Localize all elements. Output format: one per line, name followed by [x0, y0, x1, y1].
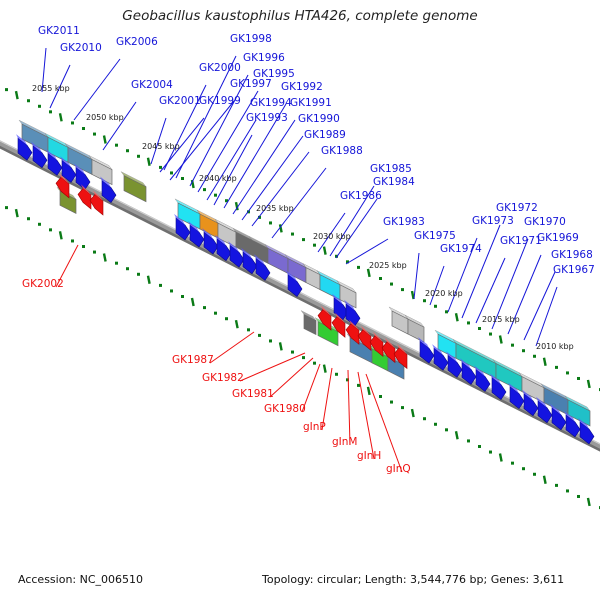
reverse-feature-boxes — [57, 187, 404, 379]
gene-label-gk1995[interactable]: GK1995 — [253, 68, 295, 80]
gene-label-ginm[interactable]: gInM — [332, 436, 357, 448]
gene-label-ginp[interactable]: gInP — [303, 421, 326, 433]
gene-label-gk1974[interactable]: GK1974 — [440, 243, 482, 255]
gene-label-gk2000[interactable]: GK2000 — [199, 62, 241, 74]
axis-tick-2040: 2040 kbp — [199, 174, 237, 183]
gene-label-gk1982[interactable]: GK1982 — [202, 372, 244, 384]
gene-label-gk1991[interactable]: GK1991 — [290, 97, 332, 109]
gene-label-gk1989[interactable]: GK1989 — [304, 129, 346, 141]
gene-label-gk1985[interactable]: GK1985 — [370, 163, 412, 175]
axis-tick-2020: 2020 kbp — [425, 289, 463, 298]
gene-label-gk1994[interactable]: GK1994 — [250, 97, 292, 109]
axis-tick-2030: 2030 kbp — [313, 232, 351, 241]
gene-label-gk1967[interactable]: GK1967 — [553, 264, 595, 276]
gene-label-gk2006[interactable]: GK2006 — [116, 36, 158, 48]
gene-label-gk1984[interactable]: GK1984 — [373, 176, 415, 188]
gc-skew-track-lower — [0, 201, 600, 515]
gene-label-gk1993[interactable]: GK1993 — [246, 112, 288, 124]
axis-tick-2025: 2025 kbp — [369, 261, 407, 270]
gene-label-gk1987[interactable]: GK1987 — [172, 354, 214, 366]
gene-label-gk1992[interactable]: GK1992 — [281, 81, 323, 93]
gene-label-gk1980[interactable]: GK1980 — [264, 403, 306, 415]
gene-label-gk2002[interactable]: GK2002 — [22, 278, 64, 290]
genome-stats-text: Topology: circular; Length: 3,544,776 bp… — [262, 573, 564, 586]
axis-tick-2055: 2055 kbp — [32, 84, 70, 93]
accession-text: Accession: NC_006510 — [18, 573, 143, 586]
gene-label-gk2011[interactable]: GK2011 — [38, 25, 80, 37]
gene-label-gk1972[interactable]: GK1972 — [496, 202, 538, 214]
gene-label-ginh[interactable]: gInH — [357, 450, 381, 462]
gene-label-gk1999[interactable]: GK1999 — [199, 95, 241, 107]
gene-label-gk1971[interactable]: GK1971 — [500, 235, 542, 247]
gene-label-gk2010[interactable]: GK2010 — [60, 42, 102, 54]
axis-tick-2035: 2035 kbp — [256, 204, 294, 213]
gene-label-gk1969[interactable]: GK1969 — [537, 232, 579, 244]
gene-label-gk1986[interactable]: GK1986 — [340, 190, 382, 202]
gene-label-gk1998[interactable]: GK1998 — [230, 33, 272, 45]
gene-label-ginq[interactable]: gInQ — [386, 463, 411, 475]
axis-tick-2010: 2010 kbp — [536, 342, 574, 351]
gene-label-gk1996[interactable]: GK1996 — [243, 52, 285, 64]
axis-tick-2050: 2050 kbp — [86, 113, 124, 122]
gene-label-gk1975[interactable]: GK1975 — [414, 230, 456, 242]
forward-feature-boxes — [19, 120, 590, 426]
gene-label-gk1970[interactable]: GK1970 — [524, 216, 566, 228]
gene-label-gk2001[interactable]: GK2001 — [159, 95, 201, 107]
gene-label-gk1990[interactable]: GK1990 — [298, 113, 340, 125]
gene-label-gk1968[interactable]: GK1968 — [551, 249, 593, 261]
gene-label-gk1981[interactable]: GK1981 — [232, 388, 274, 400]
axis-tick-2015: 2015 kbp — [482, 315, 520, 324]
gene-label-gk1983[interactable]: GK1983 — [383, 216, 425, 228]
gene-label-gk1973[interactable]: GK1973 — [472, 215, 514, 227]
gene-label-gk2004[interactable]: GK2004 — [131, 79, 173, 91]
gene-label-gk1988[interactable]: GK1988 — [321, 145, 363, 157]
axis-tick-2045: 2045 kbp — [142, 142, 180, 151]
genome-map-viewer: Geobacillus kaustophilus HTA426, complet… — [0, 0, 600, 600]
